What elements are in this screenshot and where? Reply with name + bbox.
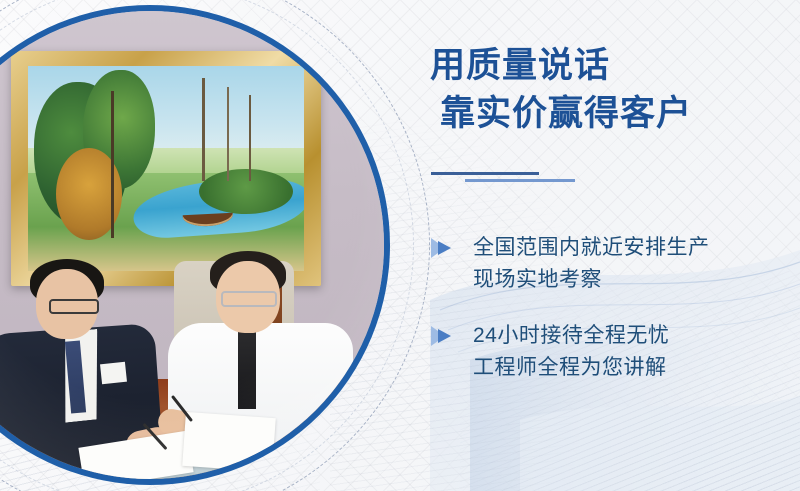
- bullet-item-2: 24小时接待全程无忧 工程师全程为您讲解: [425, 320, 800, 384]
- bullet-item-1: 全国范围内就近安排生产 现场实地考察: [425, 232, 800, 296]
- painting-right-bushes: [199, 169, 293, 214]
- bullet-2-line-2: 工程师全程为您讲解: [473, 352, 800, 384]
- bullet-1-line-1: 全国范围内就近安排生产: [473, 232, 800, 264]
- divider-line-top: [431, 172, 539, 175]
- headline-line-2: 靠实价赢得客户: [440, 90, 800, 138]
- person-left-glasses: [49, 299, 99, 314]
- content-column: 用质量说话 靠实价赢得客户 全国范围内就近安排生产 现场实地考察: [425, 0, 800, 491]
- headline: 用质量说话 靠实价赢得客户: [430, 42, 800, 137]
- person-right-tie: [238, 329, 256, 409]
- scene-landscape-painting: [11, 51, 321, 286]
- painting-trunk-4: [249, 95, 251, 181]
- person-left-badge: [100, 362, 127, 385]
- headline-divider: [431, 172, 631, 186]
- painting-trunk-3: [227, 87, 229, 181]
- bullet-list: 全国范围内就近安排生产 现场实地考察 24小时接待全程无忧 工程师全程为您讲解: [425, 232, 800, 408]
- headline-line-1: 用质量说话: [430, 46, 610, 85]
- double-arrow-right-icon: [429, 324, 455, 348]
- divider-line-bottom: [465, 179, 575, 182]
- bullet-2-line-1: 24小时接待全程无忧: [473, 320, 800, 352]
- person-right-glasses: [221, 291, 277, 307]
- painting-trunk-1: [111, 91, 114, 239]
- photo-image: [0, 11, 384, 479]
- bullet-1-line-2: 现场实地考察: [473, 264, 800, 296]
- scene-document-2: [182, 412, 276, 472]
- painting-trunk-2: [202, 78, 205, 181]
- photo-circle: [0, 5, 390, 485]
- meeting-scene-illustration: [0, 11, 384, 479]
- double-arrow-right-icon: [429, 236, 455, 260]
- painting-canvas: [28, 66, 304, 271]
- promo-banner: 用质量说话 靠实价赢得客户 全国范围内就近安排生产 现场实地考察: [0, 0, 800, 491]
